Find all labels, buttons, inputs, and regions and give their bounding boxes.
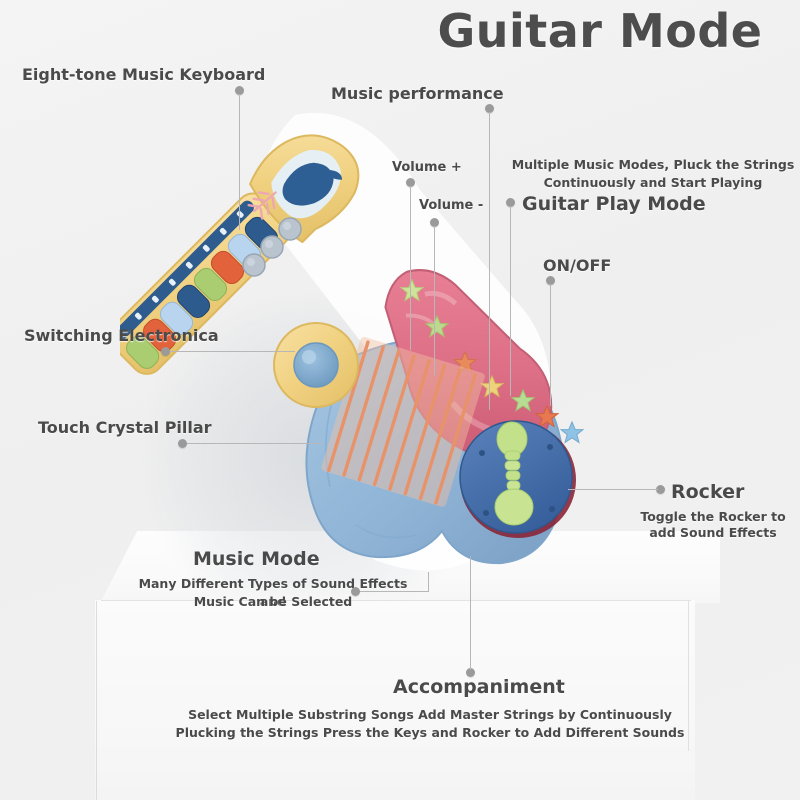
callout-label-accompaniment: Accompaniment bbox=[393, 676, 565, 698]
callout-label-on-off: ON/OFF bbox=[543, 256, 611, 275]
switching-electronica-knob bbox=[274, 323, 358, 407]
callout-line-on-off bbox=[550, 284, 551, 406]
callout-desc-guitar-play-mode-line1: Multiple Music Modes, Pluck the Strings bbox=[508, 156, 798, 174]
callout-label-volume-up: Volume + bbox=[392, 160, 462, 175]
callout-line-volume-up bbox=[410, 186, 411, 350]
callout-line-volume-down bbox=[434, 226, 435, 376]
callout-line-music-mode bbox=[360, 591, 428, 592]
callout-desc-guitar-play-mode-line2: Continuously and Start Playing bbox=[508, 174, 798, 192]
callout-desc-accompaniment-line1: Select Multiple Substring Songs Add Mast… bbox=[170, 706, 690, 724]
callout-line-music-mode-riser bbox=[428, 572, 429, 592]
callout-label-guitar-play-mode: Guitar Play Mode bbox=[522, 193, 706, 215]
callout-line-eight-tone-music-keyboard bbox=[239, 94, 240, 230]
callout-line-guitar-play-mode bbox=[510, 206, 511, 396]
callout-label-music-mode: Music Mode bbox=[193, 548, 320, 570]
callout-desc-music-mode-line2: Music Can be Selected bbox=[128, 593, 418, 611]
callout-label-rocker: Rocker bbox=[671, 481, 744, 503]
callout-label-volume-down: Volume - bbox=[419, 198, 483, 213]
pedestal-front-face bbox=[95, 600, 695, 800]
callout-dot-music-mode bbox=[351, 587, 360, 596]
callout-desc-accompaniment-line2: Plucking the Strings Press the Keys and … bbox=[170, 724, 690, 742]
callout-line-rocker bbox=[568, 489, 658, 490]
callout-label-touch-crystal-pillar: Touch Crystal Pillar bbox=[38, 418, 212, 437]
callout-line-music-performance bbox=[489, 112, 490, 410]
page-title: Guitar Mode bbox=[420, 4, 780, 58]
callout-line-switching-electronica bbox=[170, 351, 295, 352]
callout-dot-touch-crystal-pillar bbox=[178, 439, 187, 448]
callout-line-touch-crystal-pillar bbox=[187, 443, 322, 444]
callout-desc-rocker-line2: add Sound Effects bbox=[638, 524, 788, 542]
callout-label-switching-electronica: Switching Electronica bbox=[24, 326, 219, 345]
callout-dot-switching-electronica bbox=[161, 347, 170, 356]
infographic-canvas: Guitar Mode Eight-tone Music Keyboard Mu… bbox=[0, 0, 800, 800]
pedestal-edge-left bbox=[96, 601, 97, 800]
callout-label-eight-tone-music-keyboard: Eight-tone Music Keyboard bbox=[22, 65, 265, 84]
callout-label-music-performance: Music performance bbox=[331, 84, 504, 103]
callout-line-accompaniment bbox=[470, 556, 471, 670]
